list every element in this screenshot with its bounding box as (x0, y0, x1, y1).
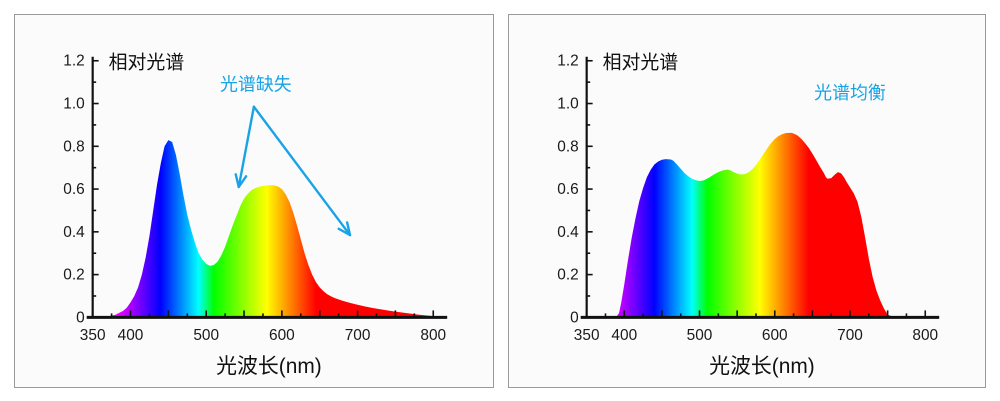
spectrum-deficient-panel: 00.20.40.60.81.01.2350400500600700800光波长… (14, 14, 494, 388)
spectrum-chart-left: 00.20.40.60.81.01.2350400500600700800光波长… (15, 15, 493, 387)
balanced-spectrum-curve (587, 133, 926, 318)
y-axis-tick-label: 0.8 (63, 138, 84, 155)
x-axis-title: 光波长(nm) (216, 355, 322, 378)
y-axis-tick-label: 1.0 (557, 96, 578, 113)
annotation-label: 光谱均衡 (814, 83, 886, 103)
x-axis-tick-label: 500 (687, 327, 713, 344)
y-axis-tick-label: 0.4 (557, 224, 579, 241)
y-axis-tick-label: 0 (76, 309, 85, 326)
figure-root: 00.20.40.60.81.01.2350400500600700800光波长… (0, 0, 1000, 401)
x-axis-tick-label: 800 (420, 327, 446, 344)
spectrum-chart-right: 00.20.40.60.81.01.2350400500600700800光波长… (509, 15, 985, 387)
spectrum-balanced-panel: 00.20.40.60.81.01.2350400500600700800光波长… (508, 14, 986, 388)
arrow-to-cyan-gap (239, 107, 254, 187)
plot-area-left: 00.20.40.60.81.01.2350400500600700800光波长… (15, 15, 493, 387)
plot-title: 相对光谱 (109, 52, 185, 74)
x-axis-title: 光波长(nm) (709, 355, 815, 378)
plot-title: 相对光谱 (603, 52, 679, 74)
x-axis-tick-label: 700 (837, 327, 863, 344)
x-axis-tick-label: 800 (912, 327, 938, 344)
arrow-to-cyan-gap-head (236, 174, 239, 187)
y-axis-tick-label: 0.2 (557, 267, 578, 284)
y-axis-tick-label: 0.4 (63, 224, 85, 241)
y-axis-tick-label: 1.0 (63, 96, 84, 113)
plot-area-right: 00.20.40.60.81.01.2350400500600700800光波长… (509, 15, 985, 387)
x-axis-tick-label: 600 (762, 327, 788, 344)
y-axis-tick-label: 1.2 (63, 53, 84, 70)
x-axis-tick-label: 600 (269, 327, 295, 344)
x-axis-tick-label: 400 (611, 327, 637, 344)
y-axis-tick-label: 0.2 (63, 267, 84, 284)
y-axis-tick-label: 0.6 (557, 181, 578, 198)
x-axis-tick-label: 700 (345, 327, 371, 344)
y-axis-tick-label: 1.2 (557, 53, 578, 70)
x-axis-tick-label: 350 (80, 327, 106, 344)
annotation-label: 光谱缺失 (220, 75, 292, 95)
y-axis-tick-label: 0 (570, 309, 579, 326)
deficient-spectrum-curve (93, 140, 434, 317)
x-axis-tick-label: 350 (574, 327, 600, 344)
y-axis-tick-label: 0.8 (557, 138, 578, 155)
x-axis-tick-label: 500 (193, 327, 219, 344)
x-axis-tick-label: 400 (118, 327, 144, 344)
y-axis-tick-label: 0.6 (63, 181, 84, 198)
